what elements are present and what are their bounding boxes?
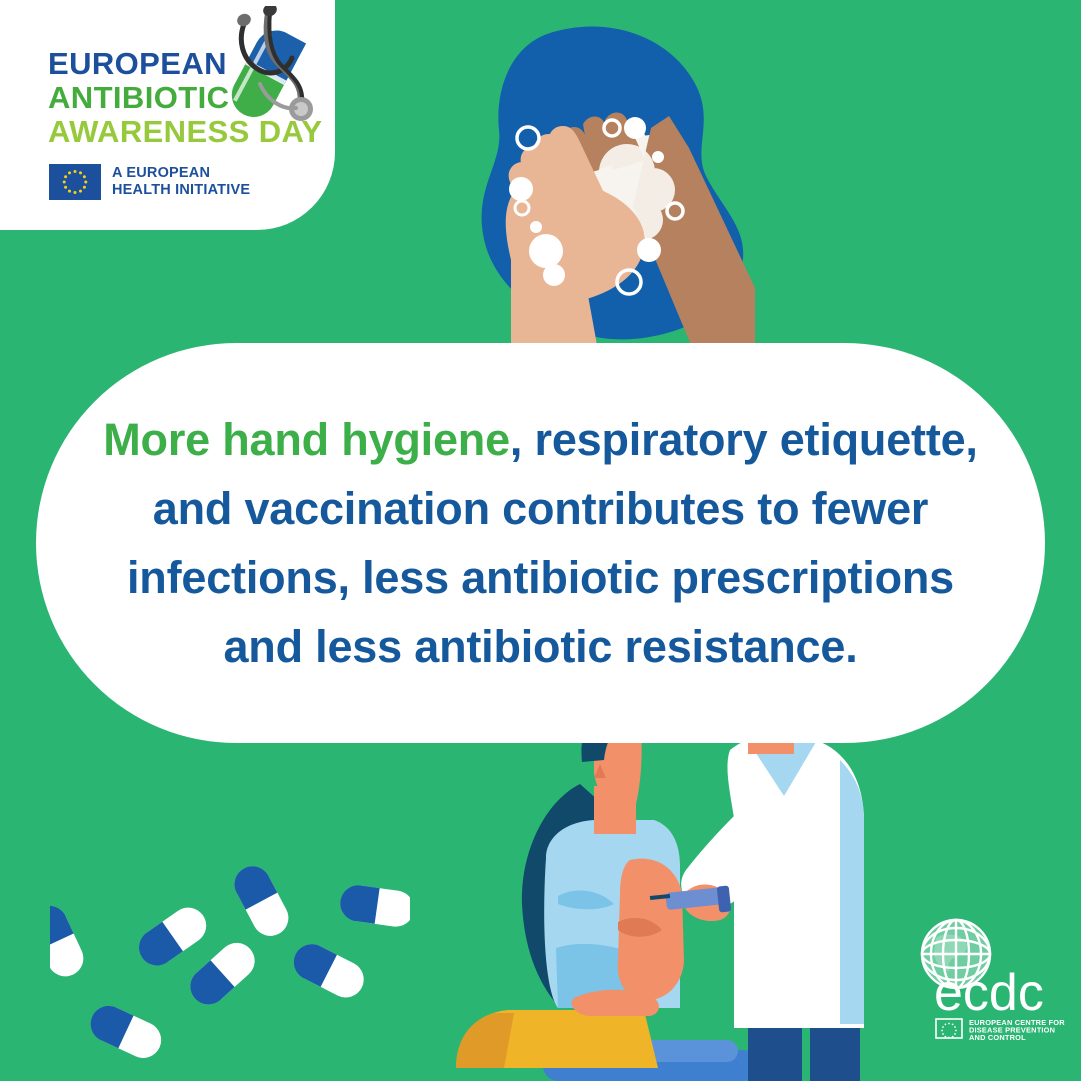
capsules-svg (50, 855, 410, 1070)
logo-line-awareness-day: AWARENESS DAY (48, 115, 328, 149)
initiative-line-1: A EUROPEAN (112, 165, 250, 182)
message-text: More hand hygiene, respiratory etiquette… (91, 405, 991, 681)
ecdc-logo: ecdc (900, 918, 1065, 1043)
capsule-3 (85, 1000, 167, 1064)
message-card: More hand hygiene, respiratory etiquette… (36, 343, 1045, 743)
capsule-2 (132, 901, 213, 973)
logo-line-european: EUROPEAN (48, 47, 328, 81)
initiative-line-2: HEALTH INITIATIVE (112, 182, 250, 199)
logo-line-antibiotic: ANTIBIOTIC (48, 81, 328, 115)
capsule-1 (50, 900, 89, 982)
eaad-wordmark: EUROPEAN ANTIBIOTIC AWARENESS DAY (48, 47, 328, 149)
capsule-6 (338, 883, 410, 929)
ecdc-wordmark: ecdc (934, 964, 1044, 1022)
poster-canvas: More hand hygiene, respiratory etiquette… (0, 0, 1081, 1081)
ecdc-subtitle-line-3: AND CONTROL (969, 1033, 1026, 1042)
eu-initiative-block: A EUROPEAN HEALTH INITIATIVE (49, 164, 250, 200)
patient-pants (456, 1010, 658, 1068)
eu-flag-svg (49, 164, 101, 200)
capsule-5 (228, 860, 295, 942)
handwashing-illustration (455, 20, 765, 345)
initiative-text: A EUROPEAN HEALTH INITIATIVE (112, 165, 250, 199)
handwashing-svg (455, 20, 765, 345)
coat-shadow (840, 760, 864, 1024)
antibiotic-capsules-illustration (50, 855, 410, 1070)
eaad-logo-card: EUROPEAN ANTIBIOTIC AWARENESS DAY (0, 0, 335, 230)
message-highlight: More hand hygiene (103, 414, 510, 465)
eu-flag-icon (49, 164, 101, 200)
capsule-7 (288, 938, 370, 1004)
capsule-4 (183, 935, 262, 1011)
ecdc-logo-svg: ecdc (900, 918, 1065, 1043)
